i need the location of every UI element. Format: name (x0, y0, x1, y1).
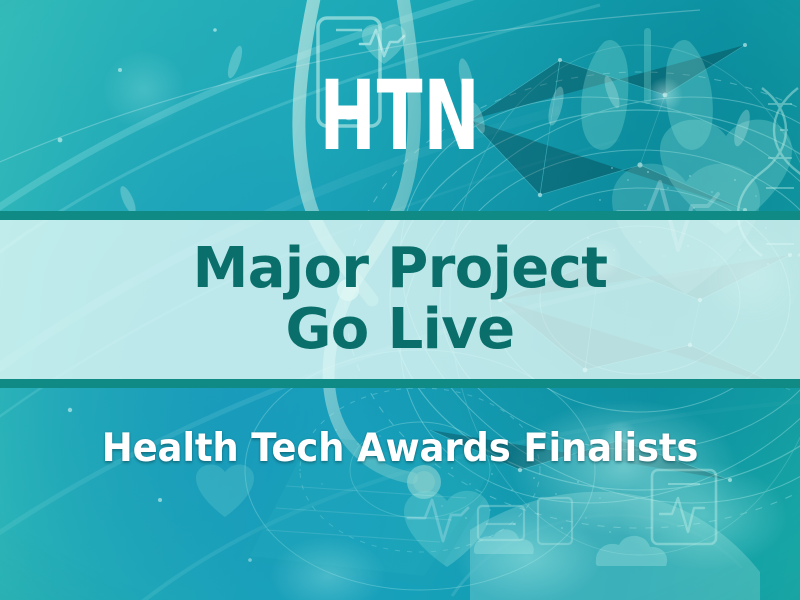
footer-headline: Health Tech Awards Finalists (20, 428, 780, 471)
banner-title-line-1: Major Project (193, 240, 608, 298)
cloud-icon (474, 529, 667, 566)
banner-title-line-2: Go Live (285, 301, 514, 359)
banner-title-block: Major Project Go Live (0, 220, 800, 379)
heart-with-pulse-icon-small (404, 491, 490, 567)
title-banner: Major Project Go Live (0, 211, 800, 388)
medical-chart-icon (652, 470, 716, 544)
banner-bottom-rule (0, 379, 800, 388)
device-card-icon (478, 498, 572, 544)
htn-wordmark: HTN (88, 68, 712, 164)
promotional-graphic: HTN Major Project Go Live Health Tech Aw… (0, 0, 800, 600)
heartbeat-pulse-icon (360, 24, 406, 64)
banner-top-rule (0, 211, 800, 220)
hand-silhouette (452, 492, 760, 600)
